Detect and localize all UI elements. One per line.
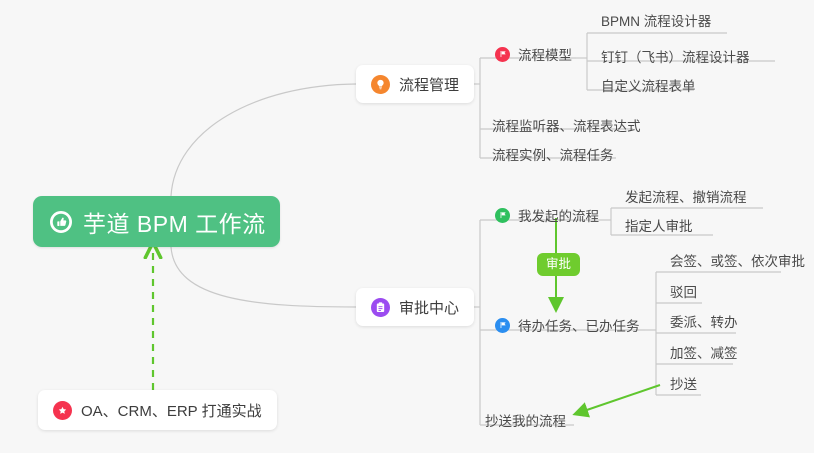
integration-note-label: OA、CRM、ERP 打通实战: [81, 400, 262, 421]
integration-note-node[interactable]: OA、CRM、ERP 打通实战: [38, 390, 277, 430]
node-label: 抄送: [670, 373, 697, 393]
root-node[interactable]: 芋道 BPM 工作流: [33, 196, 280, 247]
node-label: 自定义流程表单: [601, 75, 696, 95]
node-label: 加签、减签: [670, 342, 738, 362]
node-label: 钉钉（飞书）流程设计器: [601, 46, 750, 66]
branch-node-approval-center[interactable]: 审批中心: [356, 288, 474, 326]
node-todo-done-tasks[interactable]: 待办任务、已办任务: [495, 315, 640, 337]
flag-icon-green: [495, 208, 510, 223]
node-label: 抄送我的流程: [485, 410, 566, 430]
node-start-cancel-process[interactable]: 发起流程、撤销流程: [625, 186, 747, 208]
branch-label: 流程管理: [399, 74, 459, 95]
node-bpmn-designer[interactable]: BPMN 流程设计器: [601, 10, 711, 32]
node-label: 会签、或签、依次审批: [670, 250, 805, 270]
flag-icon-red: [495, 47, 510, 62]
mindmap-canvas: 芋道 BPM 工作流 流程管理 审批中心: [0, 0, 814, 453]
node-label: 待办任务、已办任务: [518, 315, 640, 335]
node-label: 我发起的流程: [518, 205, 599, 225]
approval-tag-badge[interactable]: 审批: [537, 253, 580, 276]
node-dingtalk-designer[interactable]: 钉钉（飞书）流程设计器: [601, 46, 750, 68]
node-label: 流程实例、流程任务: [492, 144, 614, 164]
node-delegate-transfer[interactable]: 委派、转办: [670, 311, 738, 333]
star-badge-icon: [53, 401, 72, 420]
node-add-remove-sign[interactable]: 加签、减签: [670, 342, 738, 364]
node-custom-form[interactable]: 自定义流程表单: [601, 75, 696, 97]
branch-label: 审批中心: [399, 297, 459, 318]
node-label: 委派、转办: [670, 311, 738, 331]
node-label: BPMN 流程设计器: [601, 10, 711, 30]
node-process-model[interactable]: 流程模型: [495, 44, 572, 66]
flag-icon-blue: [495, 318, 510, 333]
node-countersign-approval[interactable]: 会签、或签、依次审批: [670, 250, 805, 272]
node-label: 驳回: [670, 281, 697, 301]
node-label: 流程模型: [518, 44, 572, 64]
node-label: 流程监听器、流程表达式: [492, 115, 641, 135]
node-process-listener[interactable]: 流程监听器、流程表达式: [492, 115, 641, 137]
lightbulb-icon: [371, 75, 390, 94]
node-cc-my-process[interactable]: 抄送我的流程: [485, 410, 566, 432]
arrow-carbon-copy: [578, 385, 660, 413]
node-my-initiated-process[interactable]: 我发起的流程: [495, 205, 599, 227]
clipboard-icon: [371, 298, 390, 317]
node-reject[interactable]: 驳回: [670, 281, 697, 303]
root-label: 芋道 BPM 工作流: [83, 205, 266, 239]
node-process-instance[interactable]: 流程实例、流程任务: [492, 144, 614, 166]
branch-node-process-management[interactable]: 流程管理: [356, 65, 474, 103]
thumbs-up-icon: [50, 211, 72, 233]
node-assignee-approval[interactable]: 指定人审批: [625, 215, 693, 237]
node-label: 发起流程、撤销流程: [625, 186, 747, 206]
node-carbon-copy[interactable]: 抄送: [670, 373, 697, 395]
node-label: 指定人审批: [625, 215, 693, 235]
approval-tag-label: 审批: [546, 257, 571, 271]
